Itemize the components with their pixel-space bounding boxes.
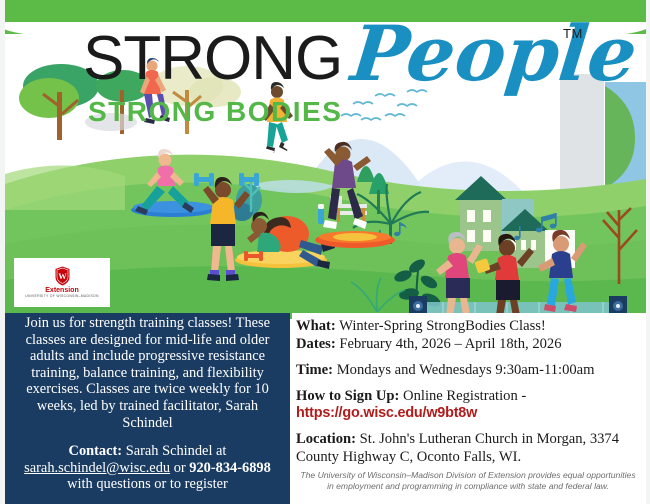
detail-time: Time: Mondays and Wednesdays 9:30am-11:0… [296, 361, 640, 379]
detail-signup: How to Sign Up: Online Registration - [296, 387, 640, 405]
contact-email-link[interactable]: sarah.schindel@wisc.edu [24, 460, 170, 476]
registration-url[interactable]: https://go.wisc.edu/w9bt8w [296, 405, 640, 422]
trademark-icon: TM [563, 26, 583, 41]
contact-phone: 920-834-6898 [189, 460, 271, 476]
strongpeople-flyer: STRONG People TM STRONG BODIES W Extensi… [0, 0, 650, 504]
extension-logo-name: Extension [45, 287, 78, 294]
contact-name: Sarah Schindel at [126, 443, 227, 459]
detail-dates: Dates: February 4th, 2026 – April 18th, … [296, 335, 640, 353]
location-label: Location: [296, 431, 356, 447]
time-label: Time: [296, 362, 333, 378]
extension-logo: W Extension UNIVERSITY OF WISCONSIN–MADI… [14, 258, 110, 307]
signup-value: Online Registration - [403, 388, 526, 404]
spacer [296, 422, 640, 430]
uw-crest-icon: W [54, 266, 71, 286]
what-label: What: [296, 318, 336, 334]
right-frame-edge [646, 0, 650, 504]
strongpeople-logo: STRONG People TM STRONG BODIES [0, 20, 650, 130]
logo-tagline: STRONG BODIES [88, 98, 342, 126]
left-frame-edge [0, 0, 5, 504]
contact-tail: with questions or to register [67, 476, 228, 492]
logo-word-people: People [348, 16, 641, 92]
signup-label: How to Sign Up: [296, 388, 399, 404]
contact-or: or [170, 460, 189, 476]
equal-opportunity-disclaimer: The University of Wisconsin–Madison Divi… [296, 470, 640, 492]
svg-text:W: W [58, 271, 67, 281]
extension-logo-subtitle: UNIVERSITY OF WISCONSIN–MADISON [25, 295, 98, 298]
detail-what: What: Winter-Spring StrongBodies Class! [296, 317, 640, 335]
spacer [296, 353, 640, 361]
contact-block: Contact: Sarah Schindel at sarah.schinde… [11, 443, 284, 493]
spacer [296, 379, 640, 387]
what-value: Winter-Spring StrongBodies Class! [339, 318, 546, 334]
description-body: Join us for strength training classes! T… [11, 315, 284, 431]
detail-location: Location: St. John's Lutheran Church in … [296, 430, 640, 466]
time-value: Mondays and Wednesdays 9:30am-11:00am [337, 362, 595, 378]
contact-label: Contact: [69, 443, 123, 459]
details-panel: What: Winter-Spring StrongBodies Class! … [292, 313, 646, 504]
logo-word-strong: STRONG [83, 28, 342, 90]
dates-label: Dates: [296, 336, 336, 352]
dates-value: February 4th, 2026 – April 18th, 2026 [339, 336, 561, 352]
description-panel: Join us for strength training classes! T… [5, 313, 290, 504]
